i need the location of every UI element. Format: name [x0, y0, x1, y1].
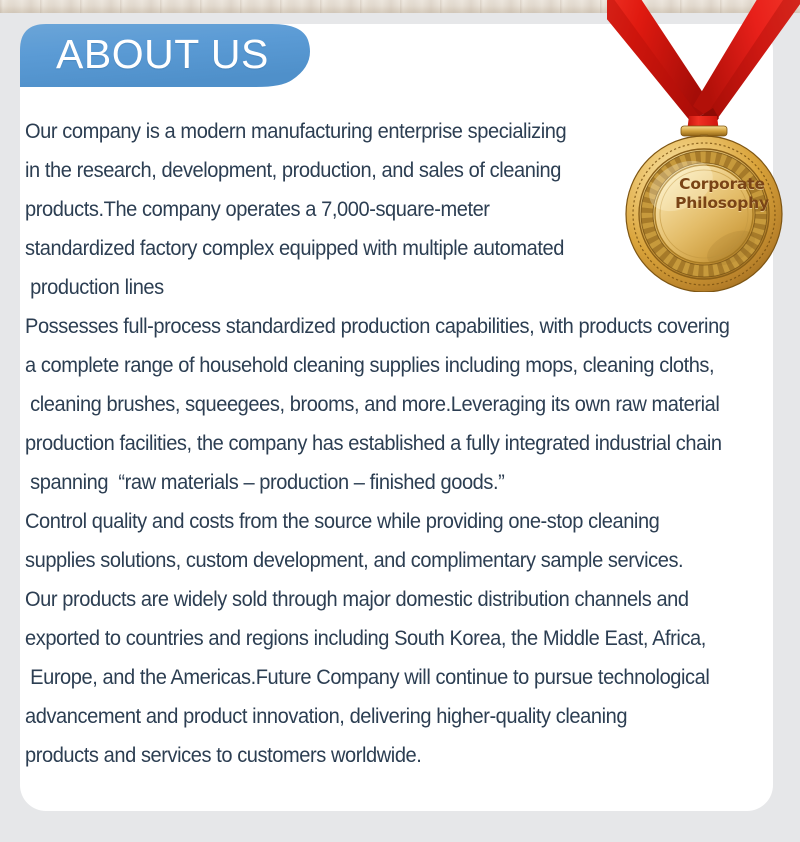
body-text-line: spanning “raw materials – production – f…	[25, 463, 743, 502]
body-text-line: production lines	[25, 268, 743, 307]
body-text-line: Europe, and the Americas.Future Company …	[25, 658, 743, 697]
medal-label: Corporate Philosophy	[660, 175, 784, 213]
wood-texture-strip	[0, 0, 800, 13]
body-text-line: supplies solutions, custom development, …	[25, 541, 743, 580]
body-text-line: a complete range of household cleaning s…	[25, 346, 743, 385]
body-text-line: production facilities, the company has e…	[25, 424, 743, 463]
medal-label-line-1: Corporate	[679, 175, 765, 193]
body-text-line: Our products are widely sold through maj…	[25, 580, 743, 619]
body-text-line: advancement and product innovation, deli…	[25, 697, 743, 736]
page-title: ABOUT US	[56, 34, 269, 75]
body-text-line: products and services to customers world…	[25, 736, 743, 775]
body-text-line: cleaning brushes, squeegees, brooms, and…	[25, 385, 743, 424]
medal-label-line-2: Philosophy	[675, 194, 769, 212]
body-text-line: exported to countries and regions includ…	[25, 619, 743, 658]
body-text-line: standardized factory complex equipped wi…	[25, 229, 743, 268]
body-text-line: in the research, development, production…	[25, 151, 743, 190]
body-text-line: Our company is a modern manufacturing en…	[25, 112, 743, 151]
body-text-line: Possesses full-process standardized prod…	[25, 307, 743, 346]
body-text-line: products.The company operates a 7,000-sq…	[25, 190, 743, 229]
body-text-line: Control quality and costs from the sourc…	[25, 502, 743, 541]
